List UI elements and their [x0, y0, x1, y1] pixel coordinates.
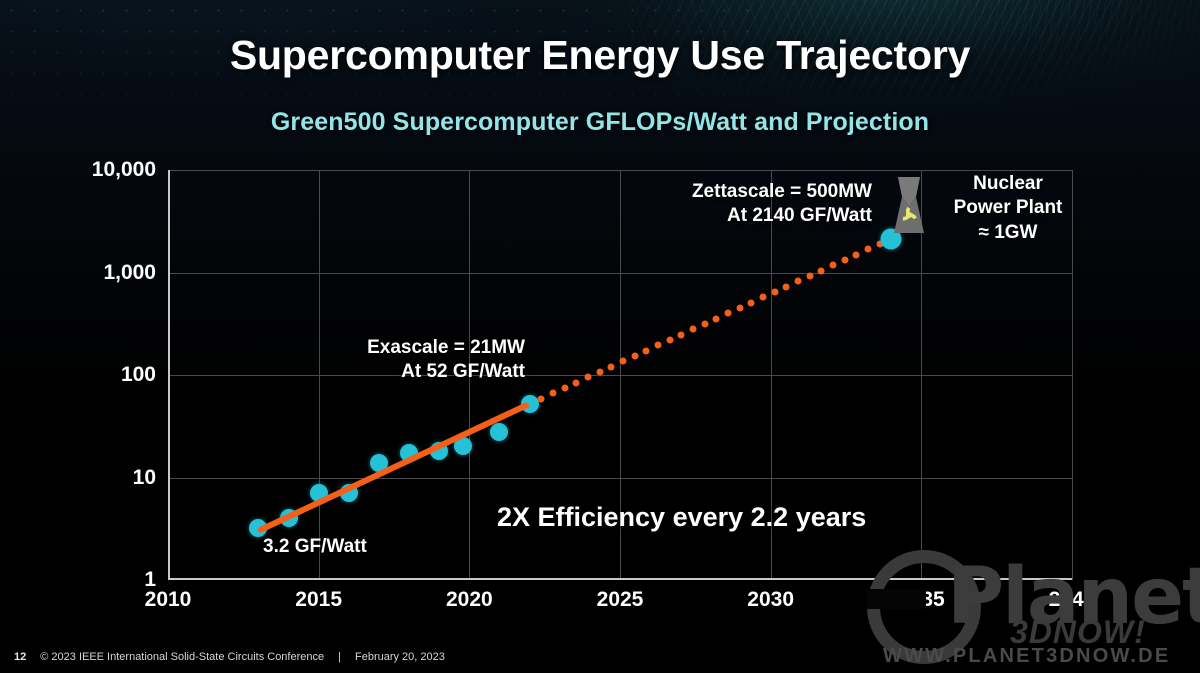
projection-dot	[689, 326, 696, 333]
y-axis-tick-label: 1,000	[103, 261, 156, 285]
projection-dot	[678, 331, 685, 338]
projection-dot	[806, 272, 813, 279]
projection-dot	[748, 299, 755, 306]
projection-dot	[829, 262, 836, 269]
projection-dot	[643, 347, 650, 354]
projection-dot	[584, 374, 591, 381]
projection-dot	[771, 289, 778, 296]
projection-dot	[724, 310, 731, 317]
annotation-nuclear-power-plant: Nuclear Power Plant ≈ 1GW	[948, 172, 1068, 245]
chart-area: 1101001,00010,000 2010201520202025203020…	[0, 0, 1200, 673]
projection-dot	[619, 358, 626, 365]
y-axis-tick-label: 10	[133, 466, 156, 490]
projection-dot	[713, 315, 720, 322]
projection-dot	[794, 278, 801, 285]
projection-dot	[596, 369, 603, 376]
projection-dot	[736, 305, 743, 312]
data-point-marker	[490, 423, 508, 441]
annotation-exascale: Exascale = 21MW At 52 GF/Watt	[300, 336, 525, 385]
footer-copyright: © 2023 IEEE International Solid-State Ci…	[40, 651, 324, 663]
x-axis-tick-label: 2015	[295, 588, 342, 612]
x-axis-tick-label: 2035	[898, 588, 945, 612]
projection-dot	[561, 385, 568, 392]
projection-dot	[631, 353, 638, 360]
projection-dot	[549, 390, 556, 397]
projection-dot	[538, 395, 545, 402]
x-axis-tick-label: 2010	[145, 588, 192, 612]
annotation-first-point: 3.2 GF/Watt	[263, 535, 367, 559]
x-axis-tick-label: 2030	[747, 588, 794, 612]
projection-dot	[783, 283, 790, 290]
footer-date: February 20, 2023	[355, 651, 445, 663]
footer-separator: |	[338, 651, 341, 663]
x-axis-tick-label: 2040	[1049, 588, 1096, 612]
x-axis-tick-label: 2020	[446, 588, 493, 612]
projection-dot	[841, 256, 848, 263]
projection-dot	[818, 267, 825, 274]
projection-dot	[853, 251, 860, 258]
projection-dot	[759, 294, 766, 301]
gridline-vertical	[1072, 170, 1073, 580]
slide-canvas: Supercomputer Energy Use Trajectory Gree…	[0, 0, 1200, 673]
y-axis-tick-label: 10,000	[92, 158, 156, 182]
projection-dot	[701, 321, 708, 328]
projection-dot	[608, 363, 615, 370]
y-axis-tick-label: 100	[121, 363, 156, 387]
projection-dot	[654, 342, 661, 349]
page-number: 12	[14, 651, 26, 663]
nuclear-cooling-tower-icon	[886, 175, 932, 237]
annotation-zettascale: Zettascale = 500MW At 2140 GF/Watt	[640, 180, 872, 229]
projection-dot	[573, 379, 580, 386]
slide-footer: 12 © 2023 IEEE International Solid-State…	[14, 651, 445, 663]
x-axis-tick-label: 2025	[597, 588, 644, 612]
annotation-efficiency-rate: 2X Efficiency every 2.2 years	[497, 502, 866, 533]
projection-dot	[864, 246, 871, 253]
projection-dot	[666, 337, 673, 344]
